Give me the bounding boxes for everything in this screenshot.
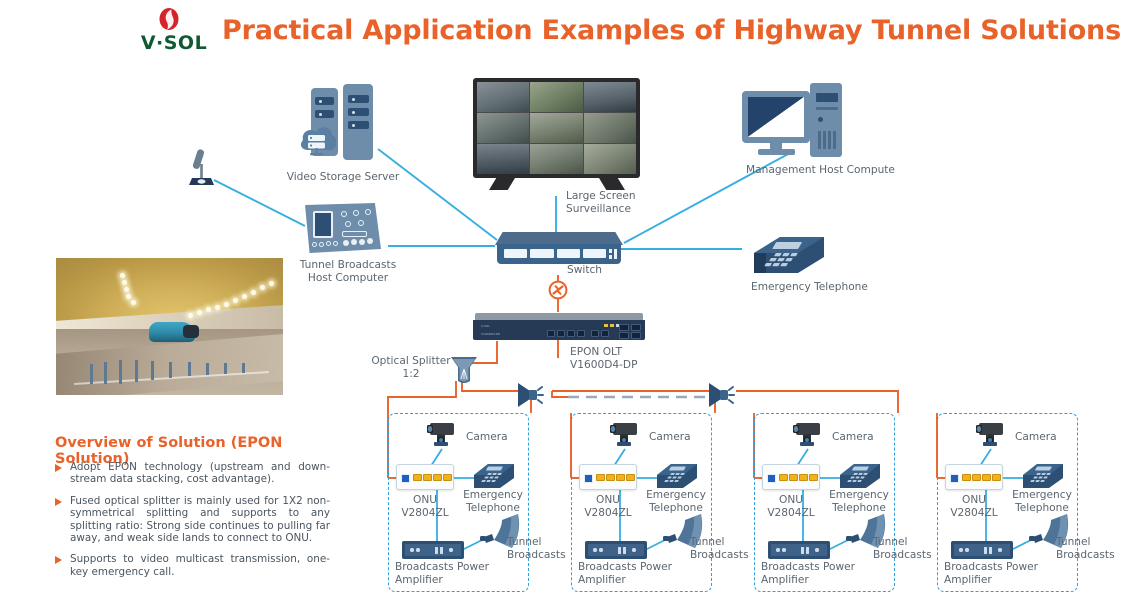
- camera-icon: [975, 421, 1009, 451]
- amplifier-label: Broadcasts Power Amplifier: [761, 561, 871, 587]
- camera-icon: [609, 421, 643, 451]
- camera-label: Camera: [466, 431, 526, 444]
- onu-device-icon: [579, 464, 637, 490]
- onu-label: ONU V2804ZL: [762, 494, 820, 520]
- site-emergency-telephone-icon: [651, 458, 699, 490]
- core-emergency-telephone-icon: [740, 225, 826, 277]
- camera-icon: [792, 421, 826, 451]
- camera-label: Camera: [1015, 431, 1075, 444]
- site-emergency-telephone-icon: [834, 458, 882, 490]
- tunnel-broadcast-host-label: Tunnel Broadcasts Host Computer: [296, 259, 400, 285]
- cloud-icon: [299, 118, 339, 160]
- tunnel-broadcasts-label: Tunnel Broadcasts: [507, 536, 573, 562]
- onu-label: ONU V2804ZL: [945, 494, 1003, 520]
- diagram-canvas: V·SOL Practical Application Examples of …: [0, 0, 1141, 599]
- management-host-label: Management Host Compute: [746, 164, 926, 177]
- video-storage-server-label: Video Storage Server: [283, 171, 403, 184]
- amplifier-label: Broadcasts Power Amplifier: [944, 561, 1054, 587]
- amplifier-label: Broadcasts Power Amplifier: [578, 561, 688, 587]
- tunnel-broadcast-host-icon: [305, 203, 383, 258]
- tunnel-broadcasts-label: Tunnel Broadcasts: [690, 536, 756, 562]
- video-storage-server-icon: [299, 84, 385, 164]
- optical-splitter-label: Optical Splitter 1:2: [371, 355, 451, 381]
- management-host-computer-icon: [742, 83, 846, 161]
- onu-label: ONU V2804ZL: [579, 494, 637, 520]
- broadcast-amplifier-icon: [951, 541, 1013, 559]
- broadcast-amplifier-icon: [402, 541, 464, 559]
- core-emergency-telephone-label: Emergency Telephone: [751, 281, 921, 294]
- tunnel-broadcasts-label: Tunnel Broadcasts: [1056, 536, 1122, 562]
- large-screen-label: Large Screen Surveillance: [566, 190, 676, 216]
- epon-olt-icon: V-SOL V1600D4-DP: [473, 313, 645, 341]
- surveillance-grid: [477, 82, 636, 174]
- site-emergency-telephone-icon: [468, 458, 516, 490]
- switch-label: Switch: [567, 264, 637, 277]
- onu-device-icon: [945, 464, 1003, 490]
- tunnel-broadcasts-label: Tunnel Broadcasts: [873, 536, 939, 562]
- onu-label: ONU V2804ZL: [396, 494, 454, 520]
- onu-device-icon: [762, 464, 820, 490]
- amplifier-label: Broadcasts Power Amplifier: [395, 561, 505, 587]
- broadcast-amplifier-icon: [768, 541, 830, 559]
- camera-icon: [426, 421, 460, 451]
- site-emergency-telephone-icon: [1017, 458, 1065, 490]
- fiber-connector-icon: [548, 280, 568, 300]
- camera-label: Camera: [649, 431, 709, 444]
- trunk-speaker-icon-1: [516, 381, 546, 409]
- optical-splitter-icon: [448, 355, 480, 385]
- onu-device-icon: [396, 464, 454, 490]
- epon-olt-label: EPON OLT V1600D4-DP: [570, 346, 680, 372]
- camera-label: Camera: [832, 431, 892, 444]
- broadcast-amplifier-icon: [585, 541, 647, 559]
- pole-camera-icon: [188, 148, 222, 186]
- trunk-speaker-icon-2: [707, 381, 737, 409]
- large-screen-tv-icon: [473, 78, 640, 196]
